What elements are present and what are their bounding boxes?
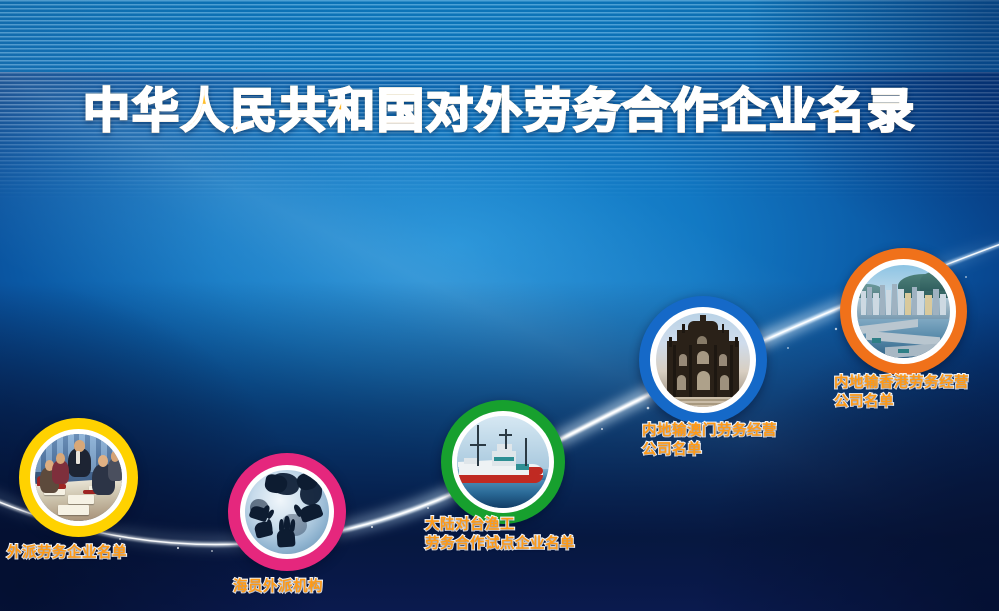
label-neidi-shu-xianggang: 内地输香港劳务经营 公司名单 [834,374,969,412]
hands-globe-photo [245,470,329,554]
node-dalu-duitai-yugong[interactable]: 大陆对台渔工 劳务合作试点企业名单 [441,400,565,524]
ring-dalu-duitai-yugong[interactable] [441,400,565,524]
macau-ruins-photo [656,313,750,407]
node-waipai-laowu[interactable]: 外派劳务企业名单 [19,418,138,537]
hongkong-harbour-photo [857,265,950,358]
ring-neidi-shu-aomen[interactable] [639,296,767,424]
ring-neidi-shu-xianggang[interactable] [840,248,967,375]
page-title: 中华人民共和国对外劳务合作企业名录 [0,84,999,140]
poster-canvas: 中华人民共和国对外劳务合作企业名录 [0,0,999,611]
ring-haiyuan-waipai[interactable] [228,453,346,571]
business-meeting-photo [35,434,122,521]
label-haiyuan-waipai: 海员外派机构 [233,578,323,597]
node-haiyuan-waipai[interactable]: 海员外派机构 [228,453,346,571]
ring-waipai-laowu[interactable] [19,418,138,537]
label-neidi-shu-aomen: 内地输澳门劳务经营 公司名单 [642,422,777,460]
node-neidi-shu-xianggang[interactable]: 内地输香港劳务经营 公司名单 [840,248,967,375]
node-neidi-shu-aomen[interactable]: 内地输澳门劳务经营 公司名单 [639,296,767,424]
label-waipai-laowu: 外派劳务企业名单 [7,544,127,563]
fishing-vessel-photo [457,416,549,508]
label-dalu-duitai-yugong: 大陆对台渔工 劳务合作试点企业名单 [425,516,575,554]
